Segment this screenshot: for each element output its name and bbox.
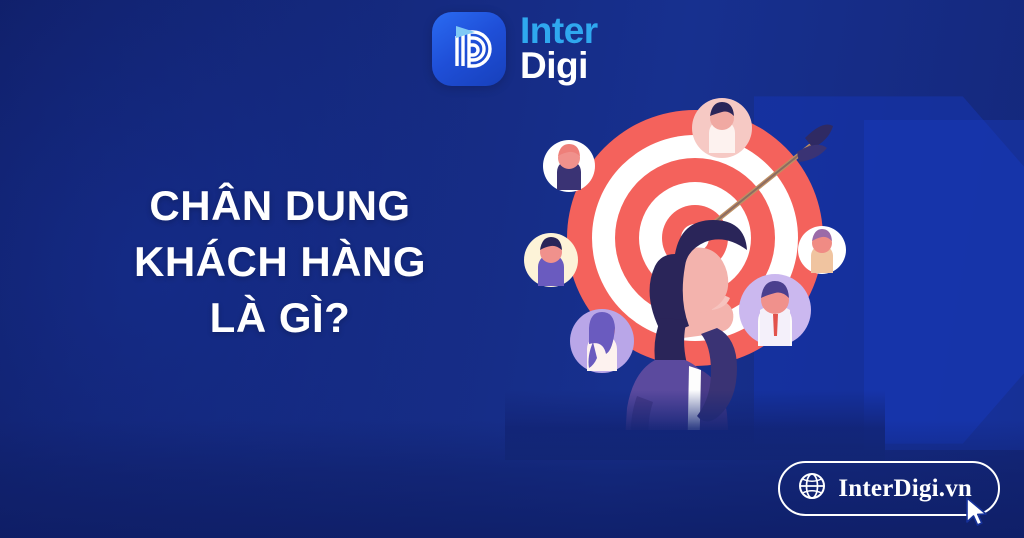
- page-title-line-2: KHÁCH HÀNG: [0, 234, 560, 290]
- page-title-line-3: LÀ GÌ?: [0, 290, 560, 346]
- globe-icon: [798, 472, 826, 505]
- watermark-label: InterDigi.vn: [838, 475, 972, 503]
- brand-logo-line-inter: Inter: [520, 14, 598, 49]
- banner-canvas: Inter Digi CHÂN DUNG KHÁCH HÀNG LÀ GÌ?: [0, 0, 1024, 538]
- page-title-line-1: CHÂN DUNG: [0, 178, 560, 234]
- customer-persona-target-illustration: [505, 78, 885, 438]
- background-chevron-shape-secondary: [864, 120, 1024, 450]
- avatar-lower-left: [570, 309, 634, 373]
- brand-logo[interactable]: Inter Digi: [432, 12, 598, 86]
- watermark-badge[interactable]: InterDigi.vn: [778, 461, 1000, 516]
- avatar-upper-left: [543, 140, 595, 192]
- brand-logo-text: Inter Digi: [520, 14, 598, 84]
- avatar-right-small: [798, 226, 846, 274]
- avatar-top: [692, 98, 752, 158]
- avatar-lower-right: [739, 274, 811, 346]
- cursor-arrow-icon: [964, 496, 990, 528]
- interdigi-d-play-logo-icon: [432, 12, 506, 86]
- avatar-mid-left: [524, 233, 578, 287]
- page-title: CHÂN DUNG KHÁCH HÀNG LÀ GÌ?: [0, 178, 560, 346]
